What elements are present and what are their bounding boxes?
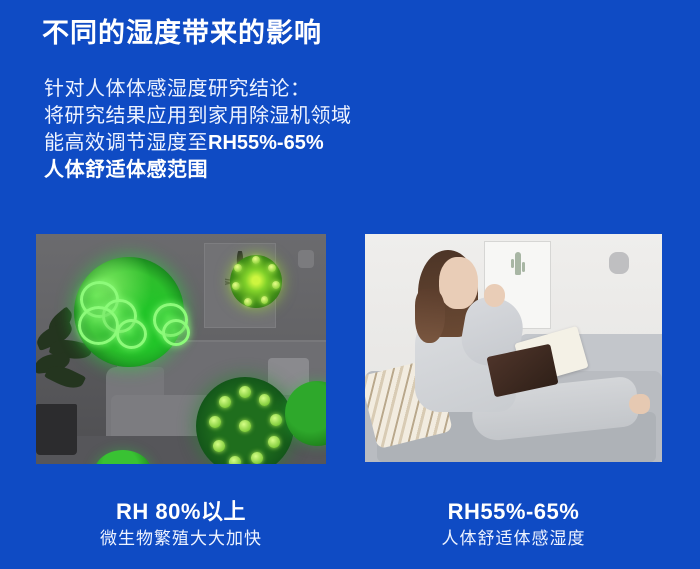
page-title: 不同的湿度带来的影响 [42, 17, 322, 51]
virus-spike [209, 416, 221, 428]
intro-line-1: 针对人体体感湿度研究结论： [44, 76, 464, 103]
intro-line-2: 将研究结果应用到家用除湿机领域 [44, 103, 464, 130]
virus-spike [232, 282, 240, 290]
microbe-cell [78, 306, 119, 345]
virus-spike [239, 420, 251, 432]
virus-spike [213, 440, 225, 452]
virus-spike [270, 414, 282, 426]
virus-spike [268, 436, 280, 448]
intro-line-3: 能高效调节湿度至RH55%-65% [44, 130, 464, 157]
bright-living-room-scene [365, 234, 662, 462]
woman-foot [629, 394, 650, 415]
microbe-cluster-large-icon [74, 257, 184, 367]
virus-spike [244, 298, 252, 306]
virus-spike [268, 264, 276, 272]
virus-spike [252, 256, 260, 264]
intro-line-3-normal: 能高效调节湿度至 [44, 132, 208, 154]
virus-spike [251, 452, 263, 464]
virus-spike [229, 456, 241, 464]
caption-title-comfort-humidity: RH55%-65% [365, 498, 662, 526]
woman-hair-strand [415, 289, 445, 344]
dim-living-room-scene [36, 234, 326, 464]
intro-line-3-highlight: RH55%-65% [208, 132, 324, 154]
photo-comfort-humidity [365, 234, 662, 462]
intro-line-4: 人体舒适体感范围 [44, 157, 464, 184]
caption-high-humidity: RH 80%以上 微生物繁殖大大加快 [36, 498, 326, 552]
cactus-artwork-icon [515, 252, 521, 275]
microbe-cell [162, 319, 190, 346]
photo-high-humidity [36, 234, 326, 464]
wall-speaker-icon [609, 252, 629, 274]
virus-spike [259, 394, 271, 406]
virus-spike [261, 296, 269, 304]
virus-spike [239, 386, 251, 398]
intro-paragraph: 针对人体体感湿度研究结论： 将研究结果应用到家用除湿机领域 能高效调节湿度至RH… [44, 76, 464, 184]
virus-spike [219, 396, 231, 408]
virus-spike [234, 264, 242, 272]
caption-sub-high-humidity: 微生物繁殖大大加快 [36, 526, 326, 552]
microbe-cell [116, 319, 147, 349]
caption-sub-comfort-humidity: 人体舒适体感湿度 [365, 526, 662, 552]
virus-spike [272, 281, 280, 289]
promo-slide: 不同的湿度带来的影响 针对人体体感湿度研究结论： 将研究结果应用到家用除湿机领域… [0, 0, 700, 569]
plant-pot [36, 404, 77, 455]
virus-sphere-small-icon [230, 255, 282, 308]
woman-head [439, 257, 478, 309]
caption-comfort-humidity: RH55%-65% 人体舒适体感湿度 [365, 498, 662, 552]
caption-title-high-humidity: RH 80%以上 [36, 498, 326, 526]
woman-hand [484, 284, 505, 307]
wall-knob-icon [298, 250, 314, 268]
